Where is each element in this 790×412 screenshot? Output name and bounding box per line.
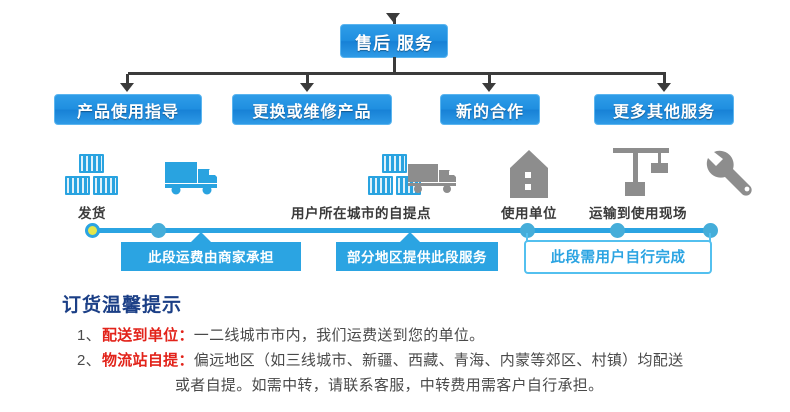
note-item-2-continuation: 或者自提。如需中转，请联系客服，中转费用需客户自行承担。: [62, 373, 778, 398]
chip-pointer-icon: [400, 232, 420, 242]
flow-node-more-services[interactable]: 更多其他服务: [594, 94, 734, 125]
note-keyword: 物流站自提：: [102, 348, 194, 373]
root-bottom-stub: [393, 57, 396, 73]
note-number: 1、: [62, 323, 102, 348]
timeline-chip-merchant-pays[interactable]: 此段运费由商家承担: [121, 242, 301, 271]
note-keyword: 配送到单位：: [102, 323, 194, 348]
flow-node-replace-repair[interactable]: 更换或维修产品: [232, 94, 392, 125]
truck-icon: [162, 154, 224, 202]
timeline-dot-2: [151, 223, 166, 238]
stage-label-use-unit: 使用单位: [497, 202, 561, 222]
chip-label: 此段需用户自行完成: [551, 250, 686, 266]
house-icon: [498, 148, 560, 200]
stage-transport-to-site: 运输到使用现场: [590, 146, 700, 222]
chip-label: 此段运费由商家承担: [148, 250, 274, 265]
flow-node-new-coop[interactable]: 新的合作: [440, 94, 540, 125]
stage-label-transport-to-site: 运输到使用现场: [576, 202, 700, 222]
arrow-down-icon-1: [120, 83, 134, 92]
truck-gray-icon: [405, 154, 467, 202]
stage-installation: [700, 148, 762, 202]
notes-title: 订货温馨提示: [62, 290, 778, 317]
timeline-dot-start: [88, 226, 97, 235]
arrow-down-icon-4: [657, 83, 671, 92]
stage-label-pickup-point: 用户所在城市的自提点: [227, 202, 495, 222]
crane-icon: [605, 146, 685, 200]
timeline-dot-4: [610, 223, 625, 238]
order-tips-section: 订货温馨提示 1、 配送到单位： 一二线城市市内，我们运费送到您的单位。 2、 …: [62, 290, 778, 398]
arrow-down-icon-3: [482, 83, 496, 92]
stage-transport-2: [405, 154, 467, 204]
timeline-chip-customer-handles[interactable]: 此段需用户自行完成: [524, 240, 712, 274]
flow-node-root[interactable]: 售后 服务: [340, 24, 448, 58]
timeline-chip-partial-area[interactable]: 部分地区提供此段服务: [336, 242, 498, 271]
chip-label: 部分地区提供此段服务: [347, 250, 487, 265]
note-body: 偏远地区（如三线城市、新疆、西藏、青海、内蒙等郊区、村镇）均配送: [194, 348, 778, 373]
stage-use-unit: 使用单位: [497, 148, 561, 222]
stage-shipping: 发货: [60, 152, 124, 222]
crates-icon: [61, 152, 123, 200]
wrench-icon: [700, 148, 762, 200]
flow-node-product-guide[interactable]: 产品使用指导: [54, 94, 202, 125]
note-body: 一二线城市市内，我们运费送到您的单位。: [194, 323, 778, 348]
stage-transport-1: [162, 154, 224, 204]
note-number: 2、: [62, 348, 102, 373]
note-item-1: 1、 配送到单位： 一二线城市市内，我们运费送到您的单位。: [62, 323, 778, 348]
stage-label-shipping: 发货: [60, 202, 124, 222]
root-arrow-icon: [386, 13, 400, 22]
connector-horizontal-bus: [128, 72, 666, 75]
after-sales-service-infographic: 售后 服务 产品使用指导 更换或维修产品 新的合作 更多其他服务 发货: [0, 0, 790, 412]
arrow-down-icon-2: [300, 83, 314, 92]
note-item-2: 2、 物流站自提： 偏远地区（如三线城市、新疆、西藏、青海、内蒙等郊区、村镇）均…: [62, 348, 778, 373]
chip-pointer-icon: [191, 232, 211, 242]
